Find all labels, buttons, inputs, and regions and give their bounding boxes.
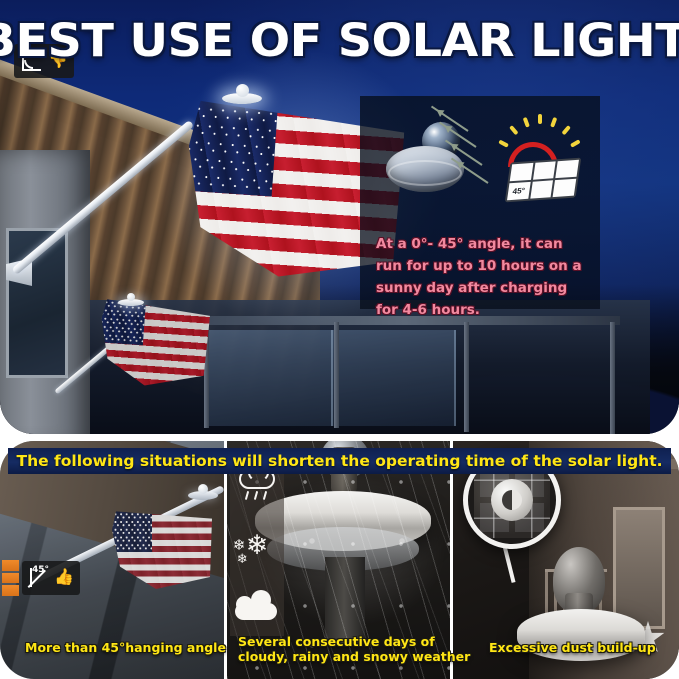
- sun-ray: [570, 139, 581, 147]
- panel-angle-label: 45°: [507, 182, 530, 200]
- snowflake-icon: ❄ ❄ ❄: [246, 532, 269, 559]
- infographic-page: 45° At a 0°- 45° angle, it can run for u…: [0, 0, 679, 679]
- solar-panel-icon: 45°: [505, 158, 582, 203]
- snowflake-glyph-smallest: ❄: [237, 552, 248, 565]
- panel-cell: [530, 180, 553, 198]
- angle-icon: 45°: [28, 567, 48, 589]
- patio-post: [464, 322, 469, 432]
- sun-ray: [523, 117, 530, 128]
- info-card: 45° At a 0°- 45° angle, it can run for u…: [360, 96, 600, 309]
- panel-cell: [553, 179, 576, 197]
- solar-light-small: [118, 293, 144, 306]
- angle-horizontal-leg: [22, 69, 41, 71]
- caption-hanging-angle: More than 45°hanging angle: [25, 640, 226, 655]
- sun-ray: [550, 117, 557, 128]
- sun-ray: [498, 140, 509, 148]
- brick-indicator: [2, 560, 19, 596]
- rain-drop-line: [263, 491, 268, 500]
- brick: [2, 560, 19, 571]
- solar-light-finial: [198, 484, 208, 494]
- house-door: [613, 507, 665, 629]
- weather-icon-strip: ❄ ❄ ❄: [230, 451, 284, 636]
- patio-glass-wall: [206, 330, 456, 426]
- caption-line-1: Several consecutive days of: [238, 634, 470, 649]
- snowflake-glyph: ❄: [246, 530, 269, 560]
- rain-drop-line: [245, 491, 250, 500]
- disc-ring: [388, 160, 462, 186]
- panel-cell: [510, 163, 533, 181]
- brick: [2, 573, 19, 584]
- panel-center-hub: [491, 479, 533, 521]
- sun-ray: [509, 125, 518, 135]
- info-card-text: At a 0°- 45° angle, it can run for up to…: [376, 234, 590, 321]
- solar-light-finial: [127, 293, 135, 301]
- rain-drop-line: [254, 491, 259, 500]
- sun-ray: [561, 125, 570, 135]
- patio-post: [610, 322, 615, 434]
- cloud-base: [235, 603, 277, 620]
- warning-banner-text: The following situations will shorten th…: [17, 452, 663, 470]
- brick: [2, 585, 19, 596]
- caption-bad-weather: Several consecutive days of cloudy, rain…: [238, 634, 470, 665]
- sun-and-panel-icon: 45°: [490, 112, 590, 208]
- page-title: BEST USE OF SOLAR LIGHTS: [0, 18, 679, 63]
- solar-light: [188, 484, 218, 500]
- badge-angle-label: 45°: [32, 565, 49, 575]
- solar-light-finial: [236, 84, 249, 97]
- panel-cell: [533, 161, 556, 179]
- panel-cell: [556, 160, 579, 178]
- cloudy-icon: [235, 590, 279, 620]
- sun-ray: [538, 114, 542, 124]
- caption-dust-buildup: Excessive dust build-up: [489, 640, 656, 655]
- caption-line-2: cloudy, rainy and snowy weather: [238, 649, 470, 664]
- solar-light-icon: [380, 116, 484, 208]
- thumbs-up-icon: 👍: [54, 570, 74, 586]
- badge-45-degree: 45° 👍: [22, 561, 80, 595]
- solar-light-large: [222, 84, 262, 104]
- warning-banner: The following situations will shorten th…: [8, 448, 671, 474]
